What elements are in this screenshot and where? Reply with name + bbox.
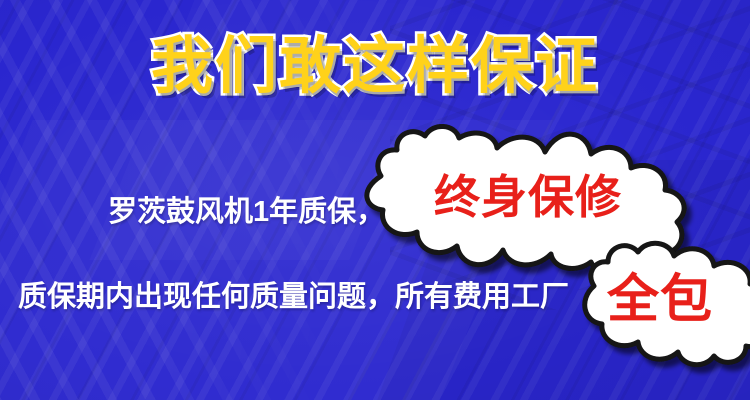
- badge-text-lifetime: 终身保修: [363, 174, 693, 220]
- promo-banner: 我们敢这样保证 罗茨鼓风机1年质保， 质保期内出现任何质量问题，所有费用工厂 终…: [0, 0, 750, 400]
- badge-text-all-inclusive: 全包: [580, 274, 740, 326]
- guarantee-line-1: 罗茨鼓风机1年质保，: [108, 198, 385, 227]
- page-title: 我们敢这样保证: [0, 36, 750, 98]
- starburst-badge-all-inclusive: 全包: [580, 238, 750, 370]
- guarantee-line-2: 质保期内出现任何质量问题，所有费用工厂: [18, 283, 569, 312]
